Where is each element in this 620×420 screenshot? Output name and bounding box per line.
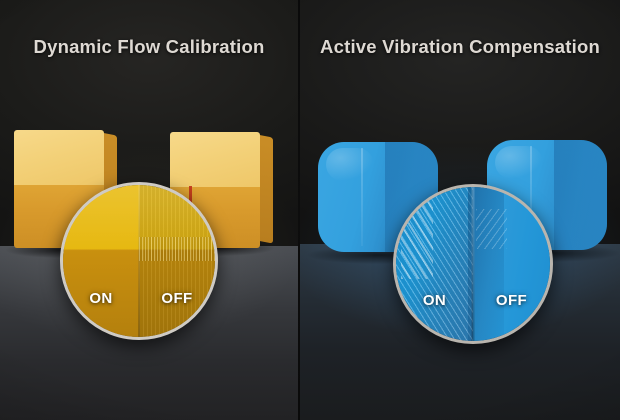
- blue-cube-highlight: [326, 148, 374, 181]
- magnifier-left-seam: [138, 185, 140, 337]
- magnifier-left-off-label: OFF: [139, 290, 215, 307]
- panel-left-title: Dynamic Flow Calibration: [0, 36, 298, 58]
- blue-cube-highlight: [495, 146, 543, 179]
- magnifier-right-off-half: [473, 187, 550, 341]
- magnifier-right-seam: [472, 187, 475, 341]
- magnifier-right-on-label: ON: [396, 292, 473, 309]
- cube-top-face: [170, 132, 260, 188]
- magnifier-right-on-half: [396, 187, 473, 341]
- magnifier-right-off-label: OFF: [473, 292, 550, 309]
- cube-top-face: [14, 130, 104, 186]
- panel-divider: [298, 0, 300, 420]
- panel-left: Dynamic Flow Calibration ON OFF: [0, 0, 298, 420]
- comparison-stage: Dynamic Flow Calibration ON OFF: [0, 0, 620, 420]
- magnifier-left[interactable]: ON OFF: [60, 182, 218, 340]
- magnifier-left-on-label: ON: [63, 290, 139, 307]
- blue-cube-facet: [554, 140, 607, 250]
- magnifier-right[interactable]: ON OFF: [393, 184, 553, 344]
- magnifier-right-labels: ON OFF: [396, 292, 550, 309]
- magnifier-left-labels: ON OFF: [63, 290, 215, 307]
- panel-right-title: Active Vibration Compensation: [300, 36, 620, 58]
- magnifier-left-content: [63, 185, 215, 337]
- magnifier-right-content: [396, 187, 550, 341]
